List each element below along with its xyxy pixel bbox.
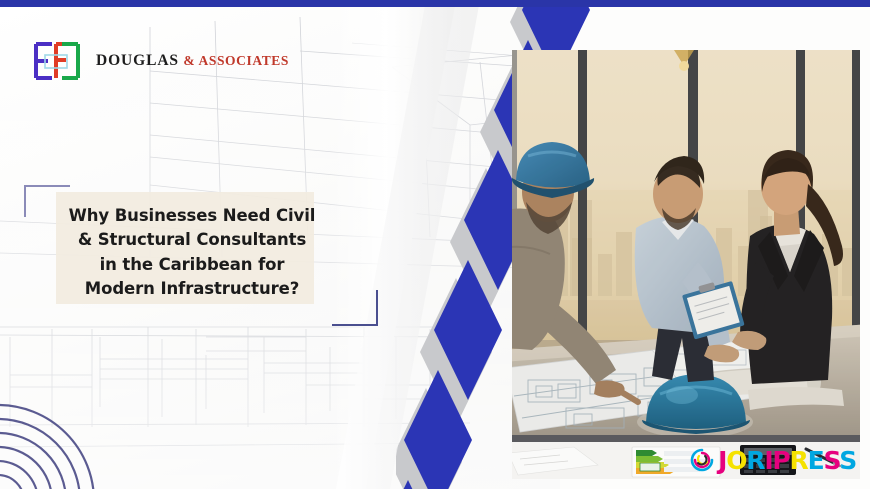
joripress-letter-0: J [718, 446, 726, 475]
headline-line-3: in the Caribbean for [44, 253, 340, 277]
joripress-wordmark: JORIPRESS [718, 448, 856, 473]
joripress-spiral-icon [689, 447, 715, 473]
headline-line-2: & Structural Consultants [44, 228, 340, 252]
joripress-letter-4: P [772, 446, 789, 475]
joripress-letter-1: O [726, 446, 746, 475]
page-title: Why Businesses Need Civil & Structural C… [44, 204, 340, 301]
joripress-letter-7: S [824, 446, 840, 475]
corner-bracket-bottom-right [332, 290, 378, 326]
joripress-letter-8: S [839, 446, 856, 475]
headline-block: Why Businesses Need Civil & Structural C… [24, 185, 354, 310]
brand-name-primary: DOUGLAS [96, 52, 179, 69]
brand-logo[interactable]: DOUGLAS & ASSOCIATES [32, 41, 289, 81]
headline-line-4: Modern Infrastructure? [44, 277, 340, 301]
headline-line-1: Why Businesses Need Civil [44, 204, 340, 228]
douglas-monogram-icon [32, 41, 84, 81]
hero-photo [512, 50, 860, 435]
brand-name-secondary: & ASSOCIATES [183, 53, 289, 68]
joripress-letter-6: E [808, 446, 824, 475]
joripress-watermark: JORIPRESS [689, 447, 856, 473]
article-hero-poster: DOUGLAS & ASSOCIATES Why Businesses Need… [0, 0, 870, 489]
concentric-arcs-decoration [0, 371, 128, 489]
joripress-letter-2: R [746, 446, 764, 475]
joripress-letter-5: R [790, 446, 808, 475]
brand-wordmark: DOUGLAS & ASSOCIATES [96, 53, 289, 70]
top-accent-bar [0, 0, 870, 7]
